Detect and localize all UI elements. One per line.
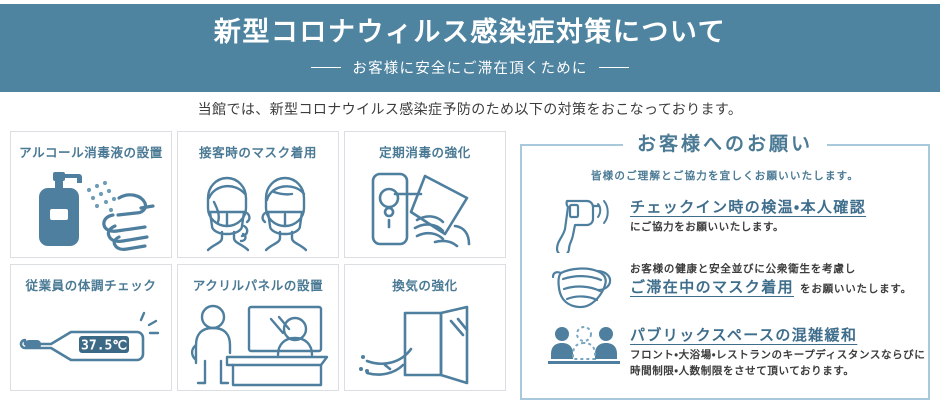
- request-note-line1: フロント・大浴場・レストランのキープディスタンスならびに: [630, 347, 925, 363]
- request-item-distancing: パブリックスペースの混雑緩和 フロント・大浴場・レストランのキープディスタンスな…: [522, 319, 928, 383]
- request-note: にご協力をお願いいたします。: [630, 219, 914, 235]
- request-headline: ご滞在中のマスク着用: [630, 277, 794, 299]
- sanitizer-bottle-hands-icon: [11, 162, 171, 257]
- banner-subtitle-row: お客様に安全にご滞在頂くために: [311, 57, 628, 78]
- open-window-airflow-icon: [345, 295, 505, 390]
- reception-acrylic-panel-icon: [178, 295, 338, 390]
- request-note-line2: 時間制限・人数制限をさせて頂いております。: [630, 363, 925, 379]
- request-headline-row: ご滞在中のマスク着用 をお願いいたします。: [630, 277, 914, 299]
- panel-title-wrap: お客様へのお願い: [522, 133, 928, 157]
- measure-card-acrylic-panel: アクリルパネルの設置: [177, 264, 339, 391]
- thermometer-reading: 37.5℃: [81, 338, 127, 353]
- measure-card-title: アルコール消毒液の設置: [11, 142, 171, 161]
- panel-title: お客様へのお願い: [623, 133, 827, 157]
- page-header-banner: 新型コロナウィルス感染症対策について お客様に安全にご滞在頂くために: [0, 4, 940, 92]
- measure-card-title: アクリルパネルの設置: [178, 275, 338, 294]
- requests-list: チェックイン時の検温・本人確認 にご協力をお願いいたします。: [522, 191, 928, 383]
- thermometer-gun-icon: [538, 191, 630, 253]
- request-body: チェックイン時の検温・本人確認 にご協力をお願いいたします。: [630, 191, 914, 235]
- two-masked-staff-icon: [178, 162, 338, 257]
- request-lead: お客様の健康と安全並びに公衆衛生を考慮し: [630, 261, 914, 277]
- request-headline: チェックイン時の検温・本人確認: [630, 197, 914, 219]
- face-mask-icon: [538, 255, 630, 311]
- digital-thermometer-icon: 37.5℃: [11, 295, 171, 390]
- decorative-dash-left: [311, 67, 341, 68]
- measure-card-title: 定期消毒の強化: [345, 142, 505, 161]
- request-headline: パブリックスペースの混雑緩和: [630, 325, 925, 347]
- page-title: 新型コロナウィルス感染症対策について: [214, 18, 726, 48]
- measure-card-title: 接客時のマスク着用: [178, 142, 338, 161]
- measures-grid: アルコール消毒液の設置: [10, 131, 510, 391]
- door-handle-wipe-icon: [345, 162, 505, 257]
- measure-card-sanitizer: アルコール消毒液の設置: [10, 131, 172, 258]
- request-body: パブリックスペースの混雑緩和 フロント・大浴場・レストランのキープディスタンスな…: [630, 319, 925, 379]
- measure-card-title: 従業員の体調チェック: [11, 275, 171, 294]
- intro-text: 当館では、新型コロナウイルス感染症予防のため以下の対策をおこなっております。: [0, 96, 940, 122]
- measure-card-disinfection: 定期消毒の強化: [344, 131, 506, 258]
- measure-card-health-check: 従業員の体調チェック 37.5℃: [10, 264, 172, 391]
- request-item-wear-mask: お客様の健康と安全並びに公衆衛生を考慮し ご滞在中のマスク着用 をお願いいたしま…: [522, 255, 928, 319]
- guest-requests-panel: お客様へのお願い 皆様のご理解とご協力を宜しくお願いいたします。: [520, 144, 930, 400]
- measure-card-staff-mask: 接客時のマスク着用: [177, 131, 339, 258]
- request-tail: をお願いいたします。: [800, 281, 912, 296]
- measure-card-ventilation: 換気の強化: [344, 264, 506, 391]
- request-item-temperature-check: チェックイン時の検温・本人確認 にご協力をお願いいたします。: [522, 191, 928, 255]
- panel-subtitle: 皆様のご理解とご協力を宜しくお願いいたします。: [522, 168, 928, 183]
- request-body: お客様の健康と安全並びに公衆衛生を考慮し ご滞在中のマスク着用 をお願いいたしま…: [630, 255, 914, 299]
- decorative-dash-right: [599, 67, 629, 68]
- banner-subtitle: お客様に安全にご滞在頂くために: [352, 57, 587, 78]
- social-distancing-icon: [538, 319, 630, 369]
- measure-card-title: 換気の強化: [345, 275, 505, 294]
- main-content: アルコール消毒液の設置: [0, 131, 940, 416]
